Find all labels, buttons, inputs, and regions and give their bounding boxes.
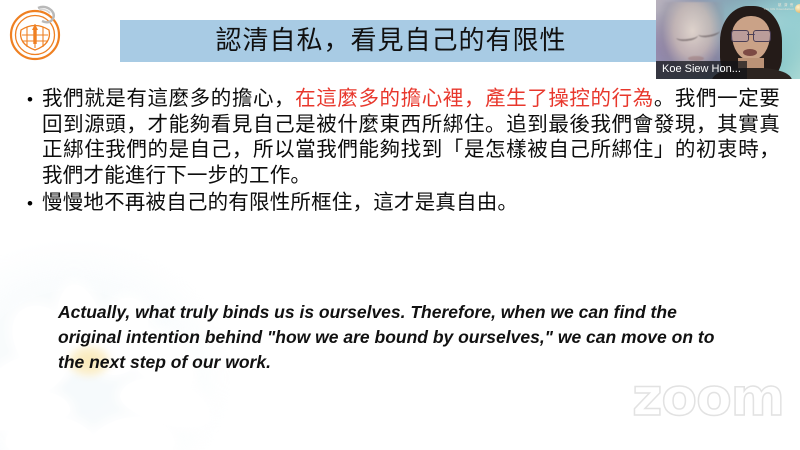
bullet-item: • 慢慢地不再被自己的有限性所框住，這才是真自由。 — [18, 190, 780, 218]
bullet-item: • 我們就是有這麼多的擔心，在這麼多的擔心裡，產生了操控的行為。我們一定要回到源… — [18, 86, 780, 188]
video-overlay-logo: 慈 濟 會 Tzu Chi Foundation — [763, 4, 794, 11]
zoom-watermark: zoom — [632, 372, 784, 424]
presentation-slide: 認清自私，看見自己的有限性 • 我們就是有這麼多的擔心，在這麼多的擔心裡，產生了… — [0, 0, 800, 450]
participant-video-tile[interactable]: 慈 濟 會 Tzu Chi Foundation Koe Siew Hon... — [656, 0, 800, 79]
bullet-text: 我們就是有這麼多的擔心，在這麼多的擔心裡，產生了操控的行為。我們一定要回到源頭，… — [42, 86, 780, 188]
participant-name-label: Koe Siew Hon... — [656, 61, 747, 79]
organization-seal-logo — [8, 4, 64, 62]
slide-body: • 我們就是有這麼多的擔心，在這麼多的擔心裡，產生了操控的行為。我們一定要回到源… — [18, 86, 780, 218]
bullet-marker: • — [18, 190, 42, 218]
video-overlay-logo-en: Tzu Chi Foundation — [763, 8, 794, 11]
bullet-text: 慢慢地不再被自己的有限性所框住，這才是真自由。 — [42, 190, 780, 216]
bullet-marker: • — [18, 86, 42, 114]
bullet-segment-plain: 慢慢地不再被自己的有限性所框住，這才是真自由。 — [42, 190, 518, 214]
bullet-segment-highlight: 在這麼多的擔心裡，產生了操控的行為 — [295, 86, 654, 110]
glasses-icon — [731, 30, 771, 40]
english-translation: Actually, what truly binds us is ourselv… — [58, 300, 718, 375]
bullet-segment-plain-1: 我們就是有這麼多的擔心， — [42, 86, 295, 110]
slide-title: 認清自私，看見自己的有限性 — [120, 20, 662, 62]
logo-orb-icon — [795, 4, 800, 13]
